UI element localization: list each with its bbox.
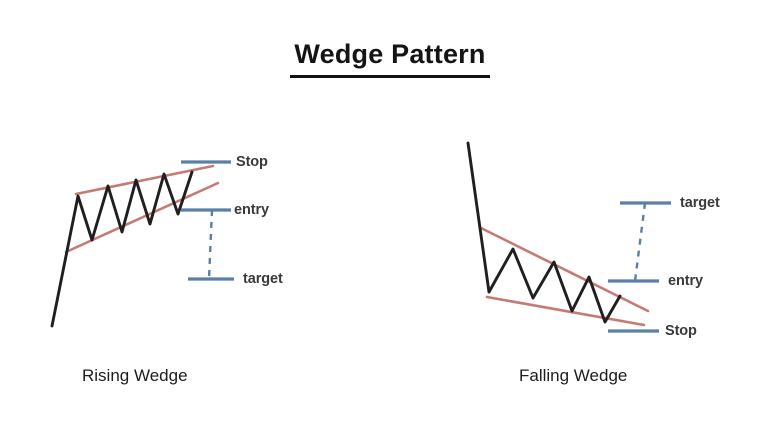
rising-wedge-caption: Rising Wedge (82, 366, 188, 386)
falling-wedge-caption: Falling Wedge (519, 366, 627, 386)
falling-wedge-target-label: target (680, 195, 720, 211)
rising-wedge-measure-dashed-line (209, 210, 212, 279)
falling-wedge-stop-label: Stop (665, 323, 697, 339)
wedge-pattern-diagram: Wedge Pattern (0, 0, 780, 439)
falling-wedge-entry-label: entry (668, 273, 703, 289)
rising-wedge-stop-label: Stop (236, 154, 268, 170)
rising-wedge-entry-label: entry (234, 202, 269, 218)
rising-wedge-lower-trendline (66, 183, 218, 252)
rising-wedge-panel (52, 162, 234, 326)
rising-wedge-upper-trendline (76, 166, 213, 194)
falling-wedge-measure-dashed-line (635, 203, 645, 281)
falling-wedge-panel (468, 143, 671, 331)
falling-wedge-lower-trendline (487, 297, 644, 325)
falling-wedge-upper-trendline (481, 228, 648, 311)
rising-wedge-target-label: target (243, 271, 283, 287)
